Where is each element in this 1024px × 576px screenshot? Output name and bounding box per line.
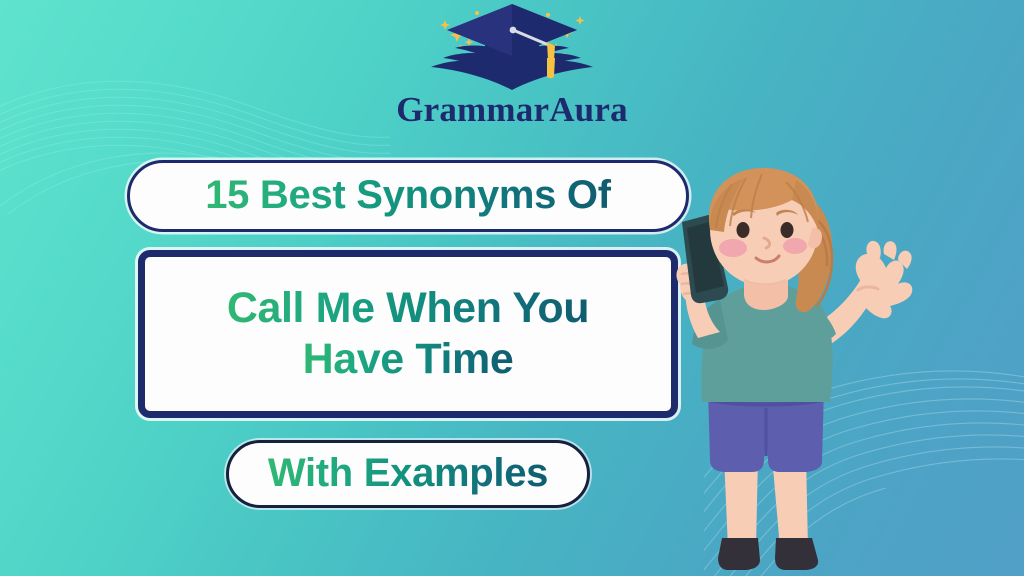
main-title-text: Call Me When You Have Time [213,283,603,384]
eyebrow-pill: 15 Best Synonyms Of [127,160,689,232]
main-title-line-2: Have Time [303,335,514,383]
with-examples-text: With Examples [268,453,548,496]
eyebrow-text: 15 Best Synonyms Of [205,175,611,218]
with-examples-pill: With Examples [226,440,590,508]
brand-logo: GrammarAura [0,2,1024,127]
shoes [718,538,818,570]
brand-name: GrammarAura [396,92,628,127]
thumbnail-canvas: GrammarAura 15 Best Synonyms Of Call Me … [0,0,1024,576]
graduation-cap-book-icon [417,2,607,94]
main-title-line-1: Call Me When You [227,284,589,332]
main-title-box: Call Me When You Have Time [138,250,678,418]
girl-talking-on-phone-illustration [646,156,946,576]
